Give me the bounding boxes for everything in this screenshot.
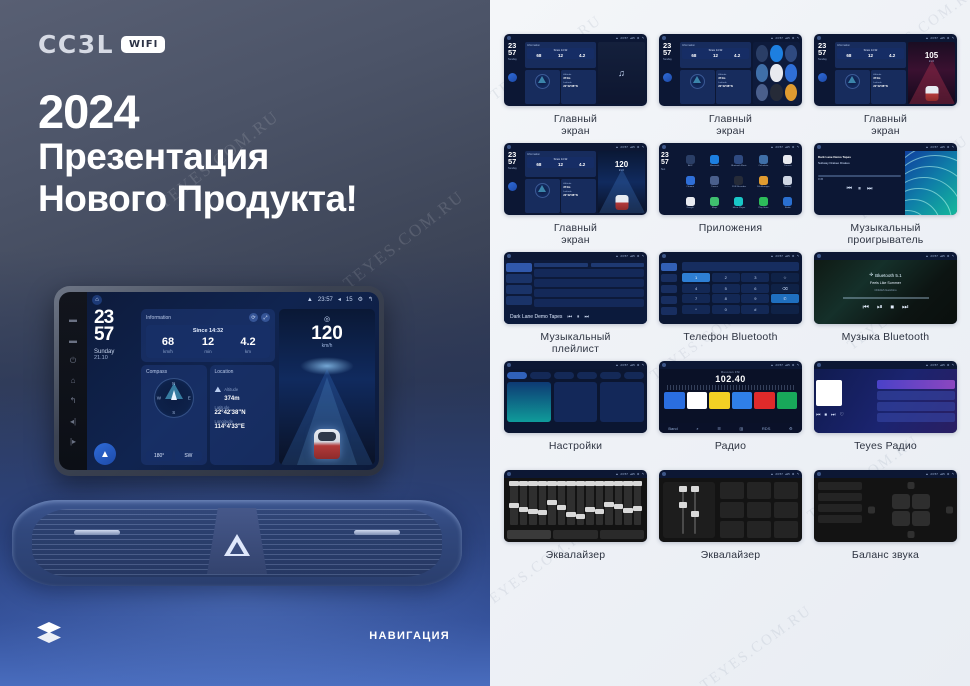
app-tile-filemanager[interactable]: FileManager: [752, 173, 774, 192]
balance-preset-3[interactable]: [818, 515, 862, 523]
band-icon[interactable]: Band: [668, 426, 677, 431]
tab-system[interactable]: [624, 372, 644, 379]
clock-widget[interactable]: 23 57 Sunday: [506, 151, 523, 213]
app-tile-dvr-recorder[interactable]: DVR Recorder: [728, 173, 750, 192]
app-icon-1[interactable]: [770, 45, 782, 62]
list-item[interactable]: [534, 269, 644, 277]
eq-band-7[interactable]: [577, 481, 585, 525]
app-icon-3[interactable]: [756, 64, 768, 81]
eq-band-12[interactable]: [624, 481, 632, 525]
navigation-shortcut-button[interactable]: [663, 73, 672, 82]
app-label: Music Player: [733, 207, 746, 209]
settings-card-wifi[interactable]: [507, 382, 551, 422]
eq-preset-0[interactable]: [720, 482, 744, 499]
stat-value-1: 12: [550, 162, 572, 167]
app-tile-play-store[interactable]: Play Store: [752, 193, 774, 212]
gallery-cell-music-playlist[interactable]: ▲ 23:57 ◂15 ⚙ ↰ Dark Lane Demo Tapes ⏮: [504, 252, 647, 357]
list-item[interactable]: [534, 279, 644, 287]
volume-up-key[interactable]: |▸: [70, 438, 76, 446]
play-pause-icon[interactable]: ⏯: [877, 304, 883, 312]
status-time: 23:57: [930, 254, 938, 258]
balance-preset-1[interactable]: [818, 493, 862, 501]
navigation-shortcut-button[interactable]: [508, 182, 517, 191]
stat-value-0: 68: [838, 53, 860, 58]
power-key[interactable]: ⏻: [70, 357, 76, 365]
sidebar-item-folders[interactable]: [506, 296, 532, 305]
compass-widget[interactable]: Compass N E S W 180°: [141, 365, 207, 465]
speed-value: 105: [908, 51, 955, 60]
balance-preset-2[interactable]: [818, 504, 862, 512]
settings-tabs[interactable]: [507, 372, 644, 379]
home-icon[interactable]: [817, 254, 821, 258]
dial-key-9[interactable]: 9: [741, 294, 769, 303]
thumbnail-sound-balance[interactable]: ▲ 23:57 ◂15 ⚙ ↰: [814, 470, 957, 542]
volume-icon: ◂15: [785, 254, 790, 258]
stat-value-1: 12: [550, 53, 572, 58]
mute-key[interactable]: ▬: [69, 316, 77, 324]
clock-widget[interactable]: 23 57 Sunday: [661, 42, 678, 104]
sidebar-item-contacts[interactable]: [661, 274, 677, 282]
eq-band-6[interactable]: [567, 481, 575, 525]
phone-sidebar[interactable]: [659, 260, 679, 324]
slider-bass[interactable]: [682, 486, 684, 534]
thumbnail-settings[interactable]: ▲ 23:57 ◂15 ⚙ ↰: [504, 361, 647, 433]
eq-preset-1[interactable]: [747, 482, 771, 499]
status-time: 23:57: [930, 472, 938, 476]
app-icon-0[interactable]: [756, 45, 768, 62]
thumbnail-caption: Teyes Радио: [854, 440, 917, 466]
thumbnail-music-playlist[interactable]: ▲ 23:57 ◂15 ⚙ ↰ Dark Lane Demo Tapes ⏮: [504, 252, 647, 324]
stop-icon[interactable]: ⏹: [825, 412, 828, 418]
preset-station-0[interactable]: [664, 392, 685, 409]
status-time: 23:57: [930, 36, 938, 40]
information-widget[interactable]: Information ⟳ ⤢ Since 14:32 68: [141, 309, 275, 362]
gear-icon[interactable]: ⚙: [358, 296, 363, 303]
balance-presets[interactable]: [818, 482, 862, 538]
status-time: 23:57: [620, 36, 628, 40]
radio-toolbar[interactable]: Band ⌕ ☰ ▥ RDS ⚙: [659, 423, 802, 433]
widgets-column: Information Since 14:32 68124.2 Altitude…: [835, 42, 906, 104]
app-icon-4[interactable]: [770, 64, 782, 81]
settings-card-carplayusage[interactable]: [554, 382, 598, 422]
navigation-shortcut-button[interactable]: [508, 73, 517, 82]
clock-widget[interactable]: 23 57 Sunday 21.10 ▲: [91, 309, 137, 465]
app-tile-maps[interactable]: Maps: [703, 193, 725, 212]
eq-band-5[interactable]: [558, 481, 566, 525]
thumbnail-caption-line-1: экран: [864, 125, 907, 137]
head-unit-hardware-buttons[interactable]: ▬ ▬ ⏻ ⌂ ↰ ◂| |▸: [59, 292, 87, 470]
clock-widget[interactable]: 23 57 Sunday: [816, 42, 833, 104]
preset-station-5[interactable]: [777, 392, 798, 409]
station-list[interactable]: [877, 371, 955, 431]
previous-icon[interactable]: ⏮: [816, 412, 821, 418]
back-icon[interactable]: ↰: [368, 296, 373, 303]
dial-key-3[interactable]: 3: [741, 273, 769, 282]
stat-value-1: 12: [860, 53, 882, 58]
thumbnail-equalizer-1[interactable]: ▲ 23:57 ◂15 ⚙ ↰: [504, 470, 647, 542]
location-widget[interactable]: Location ⛰ Altitude 374m Latitude: [210, 365, 276, 465]
sidebar-item-keypad[interactable]: [661, 263, 677, 271]
balance-front-arrow[interactable]: [907, 482, 914, 489]
dial-key-2[interactable]: 2: [712, 273, 740, 282]
eq-band-10[interactable]: [605, 481, 613, 525]
eq-mode-2[interactable]: [600, 530, 644, 539]
eq-band-9[interactable]: [596, 481, 604, 525]
station-presets[interactable]: [661, 392, 800, 409]
preset-station-1[interactable]: [687, 392, 708, 409]
gallery-cell-bt-phone[interactable]: ▲ 23:57 ◂15 ⚙ ↰ 1 2 3 ☆ 4: [659, 252, 802, 357]
navigation-speed-panel[interactable]: ◎ 120 km/h: [279, 309, 375, 465]
sidebar-item-favorites[interactable]: [661, 296, 677, 304]
wifi-icon: ▲: [925, 145, 928, 149]
equalizer-modes[interactable]: [507, 530, 644, 539]
home-icon[interactable]: [507, 472, 511, 476]
thumbnail-bt-music[interactable]: ▲ 23:57 ◂15 ⚙ ↰ ✣ Bluetooth 5.1 Feels Li…: [814, 252, 957, 324]
app-icon-5[interactable]: [785, 64, 797, 81]
app-tile-gallery[interactable]: Gallery: [777, 173, 799, 192]
widgets-column: Information ⟳ ⤢ Since 14:32 68: [141, 309, 275, 465]
thumbnail-caption: Баланс звука: [852, 549, 919, 575]
pause-icon[interactable]: ⏸: [858, 186, 861, 193]
thumbnail-caption: Телефон Bluetooth: [683, 331, 777, 357]
thumbnail-caption-line-0: Баланс звука: [852, 549, 919, 561]
clock-widget[interactable]: 23 57 Sun: [659, 151, 678, 215]
compass-dial: [535, 183, 550, 198]
thumbnail-apps[interactable]: ▲ 23:57 ◂15 ⚙ ↰ 23 57 Sun AUX Bluetooth …: [659, 143, 802, 215]
status-time: 23:57: [930, 363, 938, 367]
tab-theme[interactable]: [577, 372, 597, 379]
back-icon: ↰: [641, 363, 644, 367]
location-widget[interactable]: Altitude374m Latitude22°42'38"N: [561, 179, 596, 214]
eq-band-2[interactable]: [529, 481, 537, 525]
home-icon[interactable]: [507, 254, 511, 258]
gallery-cell-home-4[interactable]: ▲ 23:57 ◂15 ⚙ ↰ 23 57 Sunday Information…: [504, 143, 647, 248]
balance-rear-arrow[interactable]: [907, 531, 914, 538]
home-icon[interactable]: [662, 254, 666, 258]
tab-sound[interactable]: [530, 372, 550, 379]
thumbnail-radio[interactable]: ▲ 23:57 ◂15 ⚙ ↰ Russian FM102.40 Band ⌕ …: [659, 361, 802, 433]
thumbnail-home-2[interactable]: ▲ 23:57 ◂15 ⚙ ↰ 23 57 Sunday Information…: [659, 34, 802, 106]
app-tile-device[interactable]: Device: [703, 173, 725, 192]
home-icon[interactable]: [817, 363, 821, 367]
eq-preset-5[interactable]: [774, 502, 798, 519]
information-widget-title: Information: [682, 44, 749, 47]
eq-preset-2[interactable]: [774, 482, 798, 499]
thumbnail-caption-line-1: плейлист: [540, 343, 610, 355]
dial-key-7[interactable]: 7: [682, 294, 710, 303]
thumbnail-home-4[interactable]: ▲ 23:57 ◂15 ⚙ ↰ 23 57 Sunday Information…: [504, 143, 647, 215]
home-icon[interactable]: ⌂: [92, 295, 102, 305]
compass-dial: [690, 74, 705, 89]
thumbnail-teyes-radio[interactable]: ▲ 23:57 ◂15 ⚙ ↰ ⏮ ⏹ ⏭ ♡: [814, 361, 957, 433]
eq-preset-7[interactable]: [747, 521, 771, 538]
settings-card-more[interactable]: [600, 382, 644, 422]
car-model-icon: [925, 86, 938, 101]
app-icon-7[interactable]: [770, 84, 782, 101]
now-playing-title: Dark Lane Demo Tapes: [510, 314, 562, 320]
status-time: 23:57: [620, 472, 628, 476]
home-icon[interactable]: [817, 472, 821, 476]
wifi-icon: ▲: [770, 363, 773, 367]
next-icon[interactable]: ⏭: [831, 412, 836, 418]
dial-key-8[interactable]: 8: [712, 294, 740, 303]
now-playing-card: ⏮ ⏹ ⏭ ♡: [816, 371, 874, 431]
thumbnail-caption-line-0: Teyes Радио: [854, 440, 917, 452]
app-tile-google[interactable]: Google: [679, 193, 701, 212]
home-icon[interactable]: [662, 36, 666, 40]
app-tile-bluetooth-music[interactable]: Bluetooth Music: [728, 152, 750, 171]
app-tile-calculator[interactable]: Calculator: [752, 152, 774, 171]
head-unit-screen[interactable]: ⌂ ▲ 23:57 ◂ 15 ⚙ ↰ 23 57 Sunday 21.10: [87, 292, 379, 470]
gear-icon: ⚙: [637, 145, 640, 149]
mini-player[interactable]: Dark Lane Demo Tapes ⏮ ⏸ ⏭: [504, 310, 647, 324]
pause-icon[interactable]: ⏸: [577, 314, 580, 320]
rds-icon[interactable]: RDS: [762, 426, 770, 431]
media-widget[interactable]: ♫: [598, 42, 645, 104]
list-item[interactable]: [877, 391, 955, 400]
home-icon[interactable]: [507, 363, 511, 367]
app-tile-camera[interactable]: Camera: [777, 152, 799, 171]
logo-model-text: CC3L: [38, 30, 114, 59]
dial-key-5[interactable]: 5: [712, 284, 740, 293]
navigation-shortcut-button[interactable]: [818, 73, 827, 82]
dial-key-6[interactable]: 6: [741, 284, 769, 293]
eq-icon[interactable]: ▥: [739, 426, 743, 431]
status-bar: ▲ 23:57 ◂15 ⚙ ↰: [814, 34, 957, 42]
wifi-icon[interactable]: ▲: [307, 297, 313, 303]
list-item[interactable]: [534, 289, 644, 297]
thumbnail-music-player[interactable]: ▲ 23:57 ◂15 ⚙ ↰ Dark Lane Demo Tapes Sub…: [814, 143, 957, 215]
status-time: 23:57: [930, 145, 938, 149]
bass-treble-sliders[interactable]: [663, 482, 715, 538]
navigation-shortcut-button[interactable]: ▲: [94, 443, 116, 465]
car-model-icon: [314, 429, 340, 459]
thumbnail-home-3[interactable]: ▲ 23:57 ◂15 ⚙ ↰ 23 57 Sunday Information…: [814, 34, 957, 106]
preset-station-3[interactable]: [732, 392, 753, 409]
list-item[interactable]: [534, 299, 644, 307]
list-item[interactable]: [877, 402, 955, 411]
stat-value-2: 4.2: [571, 53, 593, 58]
gear-icon: ⚙: [792, 363, 795, 367]
app-tile-chrome[interactable]: Chrome: [679, 173, 701, 192]
eq-band-0[interactable]: [510, 481, 518, 525]
home-icon[interactable]: [662, 472, 666, 476]
list-item[interactable]: [877, 413, 955, 422]
progress-bar[interactable]: [818, 175, 901, 177]
album-art: ♫: [598, 42, 645, 104]
gallery-cell-home-1[interactable]: ▲ 23:57 ◂15 ⚙ ↰ 23 57 Sunday Information…: [504, 34, 647, 139]
location-widget[interactable]: Altitude374m Latitude22°42'38"N: [561, 70, 596, 105]
gear-icon: ⚙: [637, 36, 640, 40]
sidebar-item-settings[interactable]: [661, 307, 677, 315]
headline-year: 2024: [38, 88, 357, 136]
compass-widget[interactable]: [525, 70, 560, 105]
volume-icon: ◂15: [785, 363, 790, 367]
eq-band-11[interactable]: [615, 481, 623, 525]
app-label: Calculator: [758, 165, 768, 167]
eq-band-3[interactable]: [539, 481, 547, 525]
navigation-speed-panel[interactable]: 120 km/h: [598, 151, 645, 213]
back-icon: ↰: [951, 363, 954, 367]
compass-widget[interactable]: [835, 70, 870, 105]
gallery-cell-equalizer-1[interactable]: ▲ 23:57 ◂15 ⚙ ↰ Эквалайзер: [504, 470, 647, 575]
eq-mode-0[interactable]: [507, 530, 551, 539]
compass-direction: SW: [175, 451, 201, 461]
volume-icon: ◂15: [630, 36, 635, 40]
equalizer-sliders[interactable]: [507, 481, 644, 525]
balance-right-arrow[interactable]: [946, 507, 953, 514]
tuning-scale[interactable]: [667, 385, 794, 390]
eq-band-13[interactable]: [634, 481, 642, 525]
eq-band-8[interactable]: [586, 481, 594, 525]
volume-icon[interactable]: ◂: [338, 296, 341, 303]
status-bar: ▲ 23:57 ◂15 ⚙ ↰: [814, 470, 957, 478]
gallery-cell-home-3[interactable]: ▲ 23:57 ◂15 ⚙ ↰ 23 57 Sunday Information…: [814, 34, 957, 139]
tab-wifi[interactable]: [507, 372, 527, 379]
dial-key-hash[interactable]: #: [741, 305, 769, 314]
dial-key-0[interactable]: 0: [712, 305, 740, 314]
back-key[interactable]: ↰: [70, 397, 77, 405]
home-icon[interactable]: [662, 363, 666, 367]
gallery-cell-teyes-radio[interactable]: ▲ 23:57 ◂15 ⚙ ↰ ⏮ ⏹ ⏭ ♡ Teyes Радио: [814, 361, 957, 466]
app-label: Google: [687, 207, 694, 209]
eq-preset-8[interactable]: [774, 521, 798, 538]
favorite-icon[interactable]: ♡: [840, 412, 844, 418]
compass-widget[interactable]: [525, 179, 560, 214]
app-icon-6[interactable]: [756, 84, 768, 101]
gallery-cell-music-player[interactable]: ▲ 23:57 ◂15 ⚙ ↰ Dark Lane Demo Tapes Sub…: [814, 143, 957, 248]
thumbnail-caption-line-0: Главный: [554, 222, 597, 234]
sidebar-item-tracks[interactable]: [506, 263, 532, 272]
favorite-icon[interactable]: ☆: [771, 273, 799, 282]
refresh-icon[interactable]: ⟳: [249, 313, 258, 322]
preset-station-4[interactable]: [754, 392, 775, 409]
gallery-cell-settings[interactable]: ▲ 23:57 ◂15 ⚙ ↰ Настройки: [504, 361, 647, 466]
navigation-speed-panel[interactable]: 105 km/h: [908, 42, 955, 104]
information-widget[interactable]: Information Since 14:32 68124.2: [525, 42, 596, 68]
home-icon[interactable]: [817, 36, 821, 40]
eq-band-1[interactable]: [520, 481, 528, 525]
home-icon[interactable]: [507, 36, 511, 40]
eq-mode-1[interactable]: [553, 530, 597, 539]
gallery-cell-radio[interactable]: ▲ 23:57 ◂15 ⚙ ↰ Russian FM102.40 Band ⌕ …: [659, 361, 802, 466]
information-widget[interactable]: Information Since 14:32 68124.2: [835, 42, 906, 68]
compass-widget-title: Compass: [146, 369, 202, 375]
altitude-value: Altitude374m: [563, 183, 594, 189]
call-icon[interactable]: ✆: [771, 294, 799, 303]
previous-icon[interactable]: ⏮: [567, 314, 572, 320]
information-widget[interactable]: Information Since 14:32 68124.2: [680, 42, 751, 68]
thumbnail-home-1[interactable]: ▲ 23:57 ◂15 ⚙ ↰ 23 57 Sunday Information…: [504, 34, 647, 106]
volume-down-key[interactable]: ◂|: [70, 418, 76, 426]
preset-station-2[interactable]: [709, 392, 730, 409]
back-icon: ↰: [641, 472, 644, 476]
next-icon[interactable]: ⏭: [867, 186, 872, 193]
status-bar: ▲ 23:57 ◂15 ⚙ ↰: [504, 361, 647, 369]
app-tile-music-player[interactable]: Music Player: [728, 193, 750, 212]
app-shortcuts-widget[interactable]: [753, 42, 800, 104]
expand-icon[interactable]: ⤢: [261, 313, 270, 322]
eq-preset-6[interactable]: [720, 521, 744, 538]
progress-bar[interactable]: [843, 297, 929, 298]
dial-key-1[interactable]: 1: [682, 273, 710, 282]
preset-buttons[interactable]: [720, 482, 798, 538]
eq-preset-3[interactable]: [720, 502, 744, 519]
gallery-cell-sound-balance[interactable]: ▲ 23:57 ◂15 ⚙ ↰ Баланс звука: [814, 470, 957, 575]
next-icon[interactable]: ⏭: [584, 314, 589, 320]
backspace-icon[interactable]: ⌫: [771, 284, 799, 293]
app-tile-radio[interactable]: Radio: [777, 193, 799, 212]
compass-widget[interactable]: [680, 70, 715, 105]
vent-adjuster-right[interactable]: [354, 530, 400, 535]
app-icon-2[interactable]: [785, 45, 797, 62]
information-widget[interactable]: Information Since 14:32 68124.2: [525, 151, 596, 177]
location-widget[interactable]: Altitude374m Latitude22°42'38"N: [871, 70, 906, 105]
gallery-cell-home-2[interactable]: ▲ 23:57 ◂15 ⚙ ↰ 23 57 Sunday Information…: [659, 34, 802, 139]
dial-key-4[interactable]: 4: [682, 284, 710, 293]
app-tile-aux[interactable]: AUX: [679, 152, 701, 171]
altitude-value: Altitude374m: [718, 74, 749, 80]
list-icon[interactable]: ☰: [717, 426, 721, 431]
search-icon[interactable]: ⌕: [696, 426, 698, 431]
eject-key[interactable]: ▬: [69, 337, 77, 345]
home-icon[interactable]: [662, 145, 666, 149]
balance-pad[interactable]: [868, 482, 953, 538]
speed-value: 120: [598, 160, 645, 169]
stop-icon[interactable]: ⏹: [891, 304, 895, 312]
speaker-rear-left: [892, 511, 910, 526]
list-item[interactable]: [877, 380, 955, 389]
gallery-cell-equalizer-2[interactable]: ▲ 23:57 ◂15 ⚙ ↰ Эквалайзер: [659, 470, 802, 575]
home-icon[interactable]: [507, 145, 511, 149]
trip-since-label: Since 14:32: [148, 328, 268, 334]
location-widget[interactable]: Altitude374m Latitude22°42'38"N: [716, 70, 751, 105]
app-icon-8[interactable]: [785, 84, 797, 101]
gear-icon[interactable]: ⚙: [789, 426, 793, 431]
settings-cards[interactable]: [507, 382, 644, 422]
tab-general[interactable]: [600, 372, 620, 379]
dial-pad[interactable]: 1 2 3 ☆ 4 5 6 ⌫ 7 8 9 ✆ * 0 #: [682, 273, 799, 314]
status-time: 23:57: [318, 297, 333, 303]
dial-key-star[interactable]: *: [682, 305, 710, 314]
home-icon[interactable]: [817, 145, 821, 149]
eq-preset-4[interactable]: [747, 502, 771, 519]
stat-value-1: 12: [705, 53, 727, 58]
app-tile-bluetooth[interactable]: Bluetooth: [703, 152, 725, 171]
sidebar-item-artists[interactable]: [506, 285, 532, 294]
status-time: 23:57: [775, 363, 783, 367]
balance-left-arrow[interactable]: [868, 507, 875, 514]
home-key[interactable]: ⌂: [71, 377, 76, 385]
gallery-cell-bt-music[interactable]: ▲ 23:57 ◂15 ⚙ ↰ ✣ Bluetooth 5.1 Feels Li…: [814, 252, 957, 357]
slider-treble[interactable]: [694, 486, 696, 534]
clock-widget[interactable]: 23 57 Sunday: [506, 42, 523, 104]
thumbnail-bt-phone[interactable]: ▲ 23:57 ◂15 ⚙ ↰ 1 2 3 ☆ 4: [659, 252, 802, 324]
gallery-cell-apps[interactable]: ▲ 23:57 ◂15 ⚙ ↰ 23 57 Sun AUX Bluetooth …: [659, 143, 802, 248]
tab-display[interactable]: [554, 372, 574, 379]
status-time: 23:57: [775, 254, 783, 258]
balance-preset-0[interactable]: [818, 482, 862, 490]
next-icon[interactable]: ⏭: [902, 304, 908, 312]
sidebar-item-albums[interactable]: [506, 274, 532, 283]
vent-adjuster-left[interactable]: [74, 530, 120, 535]
thumbnail-equalizer-2[interactable]: ▲ 23:57 ◂15 ⚙ ↰: [659, 470, 802, 542]
volume-icon: ◂15: [940, 36, 945, 40]
sidebar-item-recents[interactable]: [661, 285, 677, 293]
eq-band-4[interactable]: [548, 481, 556, 525]
previous-icon[interactable]: ⏮: [863, 304, 869, 312]
previous-icon[interactable]: ⏮: [847, 186, 852, 193]
